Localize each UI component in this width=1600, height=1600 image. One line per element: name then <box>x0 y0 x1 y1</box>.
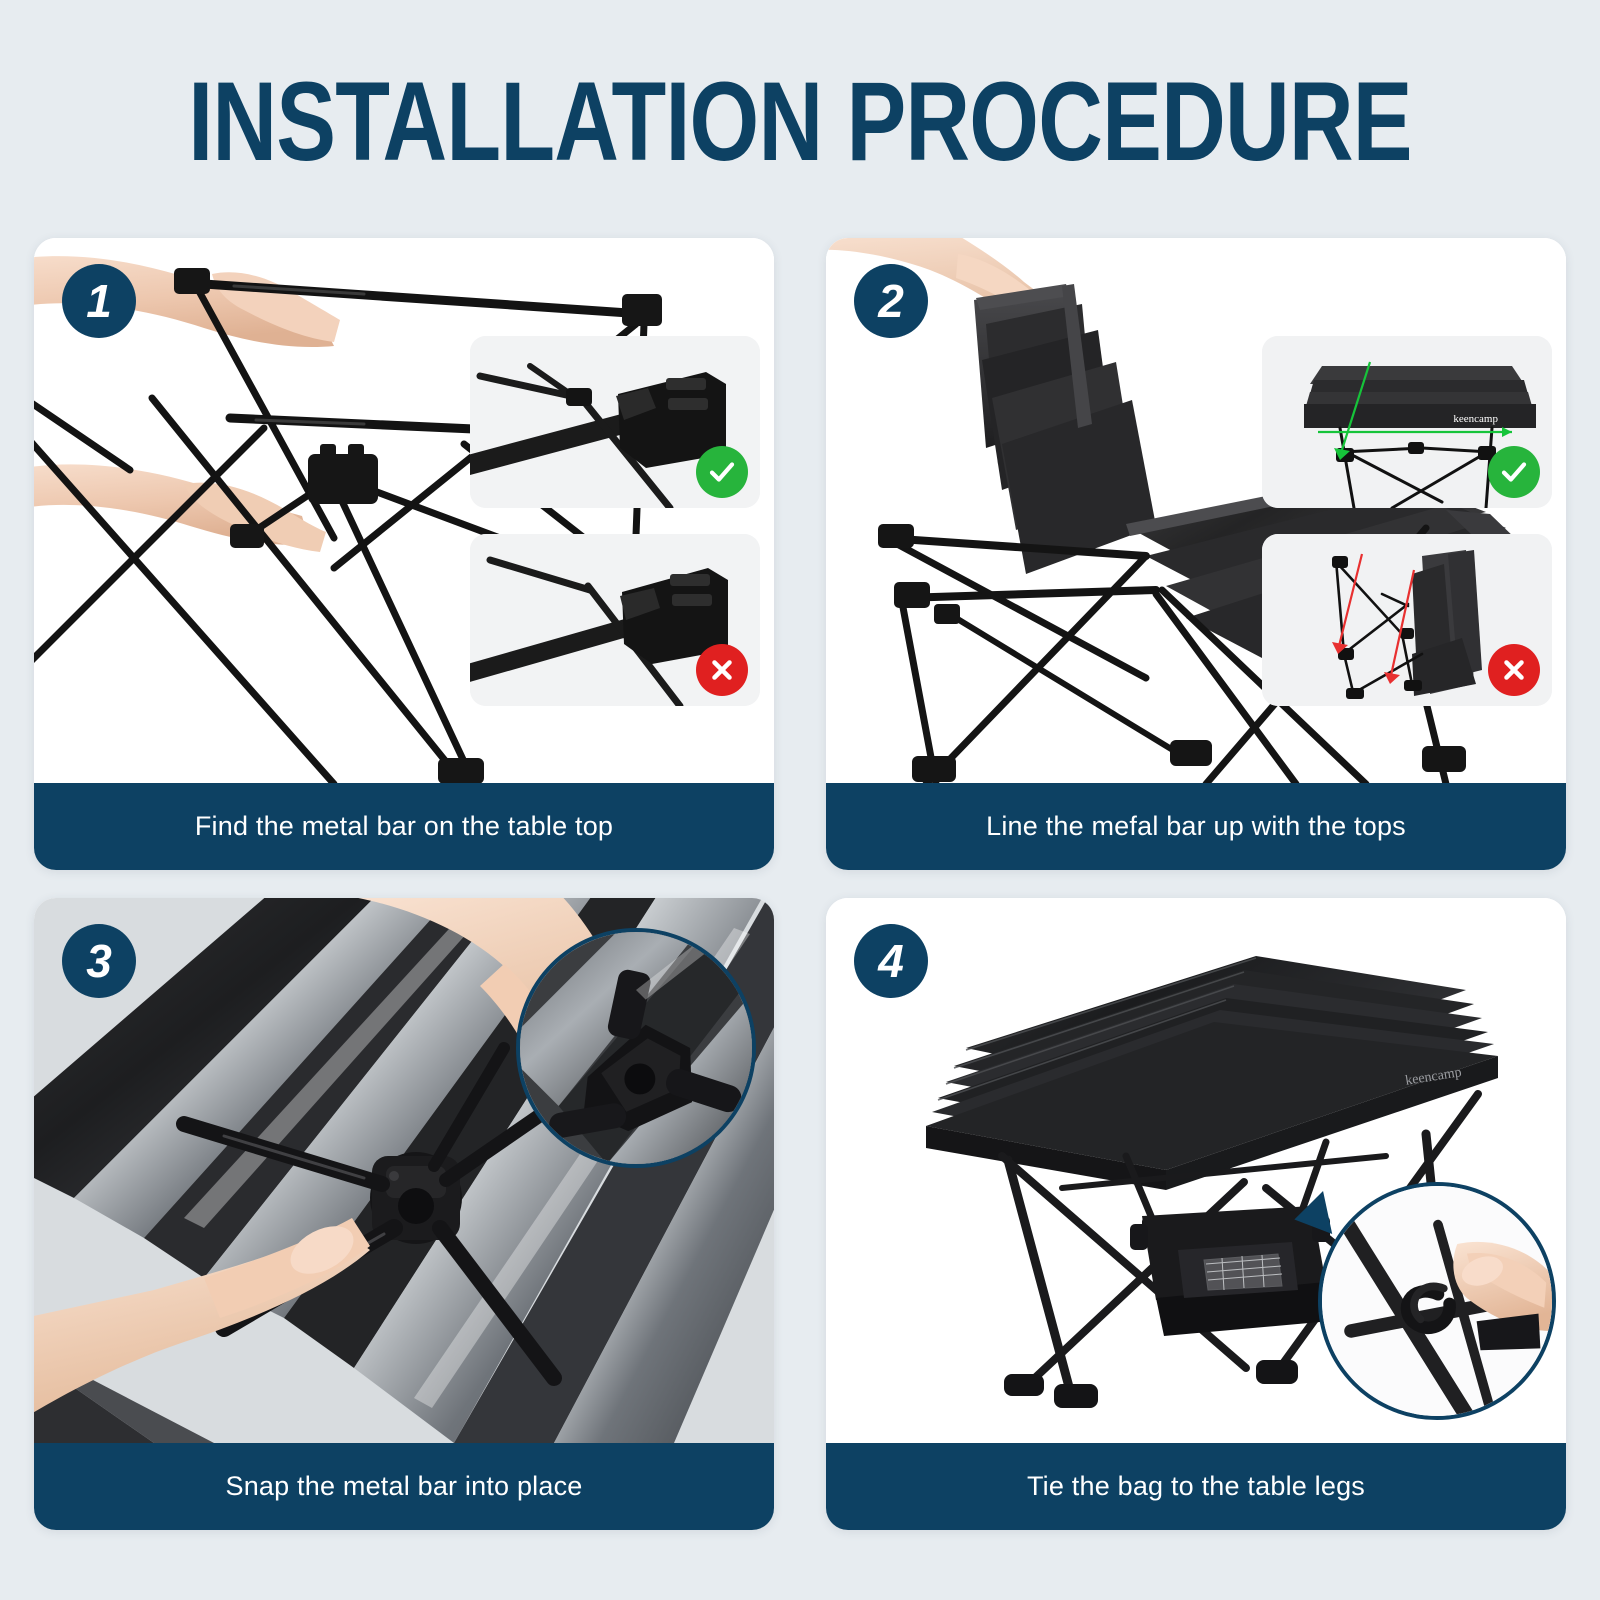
step-4-badge: 4 <box>854 924 928 998</box>
step-1-badge: 1 <box>62 264 136 338</box>
steps-grid: 1 <box>34 238 1566 1568</box>
step-1-inset-correct <box>470 336 760 508</box>
step-3-callout <box>516 928 756 1168</box>
step-1-caption: Find the metal bar on the table top <box>34 783 774 870</box>
step-2-badge: 2 <box>854 264 928 338</box>
step-card-2[interactable]: 2 keencamp <box>826 238 1566 870</box>
check-icon <box>696 446 748 498</box>
step-3-caption: Snap the metal bar into place <box>34 1443 774 1530</box>
page-title: INSTALLATION PROCEDURE <box>160 58 1440 187</box>
step-2-caption: Line the mefal bar up with the tops <box>826 783 1566 870</box>
cross-icon <box>696 644 748 696</box>
step-card-1[interactable]: 1 <box>34 238 774 870</box>
step-3-badge: 3 <box>62 924 136 998</box>
step-1-inset-incorrect <box>470 534 760 706</box>
step-2-inset-incorrect <box>1262 534 1552 706</box>
brand-label-inset: keencamp <box>1453 413 1498 425</box>
step-card-3[interactable]: 3 <box>34 898 774 1530</box>
step-4-callout <box>1318 1182 1556 1420</box>
check-icon <box>1488 446 1540 498</box>
cross-icon <box>1488 644 1540 696</box>
step-card-4[interactable]: keencamp <box>826 898 1566 1530</box>
step-2-inset-correct: keencamp <box>1262 336 1552 508</box>
step-4-caption: Tie the bag to the table legs <box>826 1443 1566 1530</box>
infographic-page: INSTALLATION PROCEDURE <box>0 0 1600 1600</box>
